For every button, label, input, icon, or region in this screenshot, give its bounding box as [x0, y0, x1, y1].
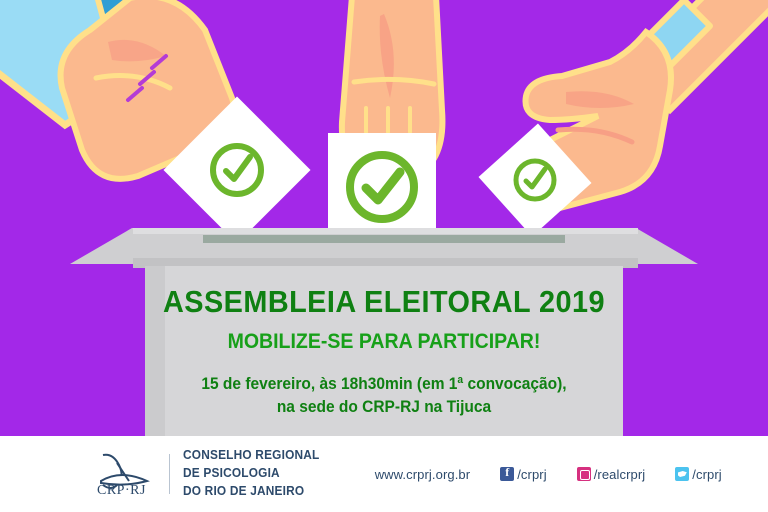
poster-copy: ASSEMBLEIA ELEITORAL 2019 MOBILIZE-SE PA…: [0, 286, 768, 420]
instagram-link[interactable]: /realcrprj: [577, 467, 646, 482]
check-circle-icon-left: [206, 139, 268, 201]
ballot-box-lid-highlight: [133, 228, 638, 234]
crprj-logo-text: CONSELHO REGIONAL DE PSICOLOGIA DO RIO D…: [183, 447, 320, 500]
illustration-area: ASSEMBLEIA ELEITORAL 2019 MOBILIZE-SE PA…: [0, 0, 768, 436]
instagram-icon: [577, 467, 591, 481]
poster-detail-line-2: na sede do CRP-RJ na Tijuca: [23, 396, 745, 420]
poster-detail: 15 de fevereiro, às 18h30min (em 1ª conv…: [23, 373, 745, 421]
crprj-logo-acronym: CRP·RJ: [97, 483, 146, 499]
logo-line-3: DO RIO DE JANEIRO: [183, 483, 320, 501]
facebook-link[interactable]: /crprj: [500, 467, 547, 482]
page-title: ASSEMBLEIA ELEITORAL 2019: [27, 286, 741, 319]
ballot-box-slot: [203, 235, 565, 243]
footer-bar: CRP·RJ CONSELHO REGIONAL DE PSICOLOGIA D…: [0, 436, 768, 512]
website-label: www.crprj.org.br: [375, 467, 471, 482]
logo-line-2: DE PSICOLOGIA: [183, 465, 320, 483]
logo-divider: [169, 454, 170, 494]
twitter-link[interactable]: /crprj: [675, 467, 722, 482]
twitter-icon: [675, 467, 689, 481]
poster-subhead: MOBILIZE-SE PARA PARTICIPAR!: [27, 330, 741, 354]
poster-canvas: ASSEMBLEIA ELEITORAL 2019 MOBILIZE-SE PA…: [0, 0, 768, 512]
ballot-paper-center: [328, 133, 436, 241]
website-link[interactable]: www.crprj.org.br: [375, 467, 471, 482]
instagram-label: /realcrprj: [594, 467, 646, 482]
check-circle-icon-right: [510, 155, 560, 205]
logo-line-1: CONSELHO REGIONAL: [183, 447, 320, 465]
crprj-logo-mark: CRP·RJ: [95, 451, 157, 497]
poster-detail-line-1: 15 de fevereiro, às 18h30min (em 1ª conv…: [23, 373, 745, 397]
twitter-label: /crprj: [692, 467, 722, 482]
check-circle-icon-center: [341, 146, 423, 228]
facebook-icon: [500, 467, 514, 481]
facebook-label: /crprj: [517, 467, 547, 482]
crprj-logo: CRP·RJ CONSELHO REGIONAL DE PSICOLOGIA D…: [95, 447, 327, 500]
social-links: www.crprj.org.br /crprj /realcrprj /crpr…: [375, 467, 722, 482]
